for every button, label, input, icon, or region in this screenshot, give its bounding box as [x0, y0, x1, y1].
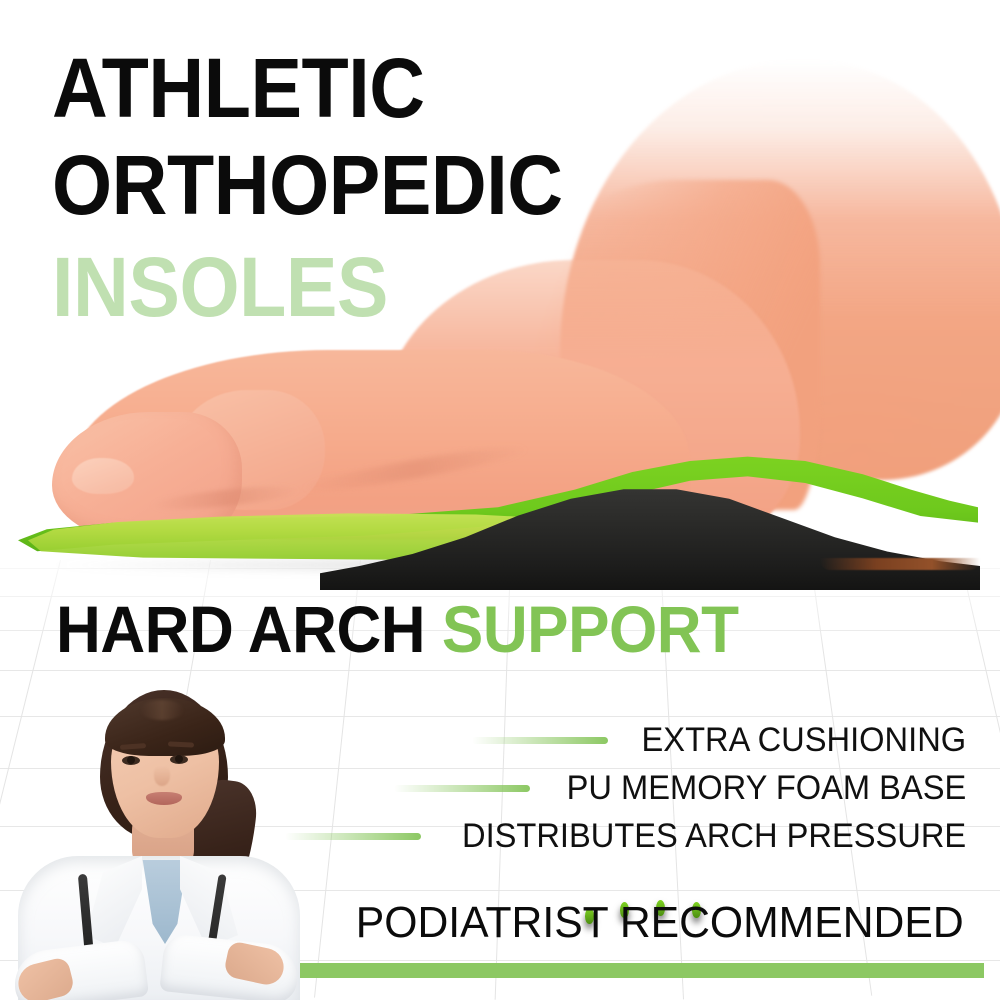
- podiatrist-photo: [12, 688, 302, 1000]
- subheadline-green: SUPPORT: [442, 592, 739, 666]
- hair-part: [140, 700, 184, 720]
- product-advertisement-poster: ATHLETIC ORTHOPEDIC INSOLES HARD ARCH SU…: [0, 0, 1000, 1000]
- feature-row: EXTRA CUSHIONING: [266, 716, 966, 764]
- subheadline: HARD ARCH SUPPORT: [56, 596, 739, 662]
- feature-dash-icon: [472, 737, 608, 744]
- headline-block: ATHLETIC ORTHOPEDIC INSOLES: [52, 48, 607, 329]
- pupil-left: [127, 756, 135, 764]
- insole-product: [0, 430, 1000, 590]
- subheadline-dark: HARD ARCH: [56, 592, 425, 666]
- feature-label: DISTRIBUTES ARCH PRESSURE: [462, 817, 966, 856]
- nose: [154, 766, 170, 786]
- feature-list: EXTRA CUSHIONING PU MEMORY FOAM BASE DIS…: [266, 716, 966, 860]
- feature-dash-icon: [285, 833, 421, 840]
- insole-heel-base: [820, 558, 980, 570]
- recommendation-claim: PODIATRIST RECOMMENDED: [356, 898, 964, 948]
- doctor-bottom-fade: [12, 974, 302, 1000]
- feature-label: EXTRA CUSHIONING: [641, 721, 966, 760]
- headline-line-1: ATHLETIC: [52, 48, 563, 129]
- feature-row: DISTRIBUTES ARCH PRESSURE: [266, 812, 966, 860]
- feature-dash-icon: [394, 785, 530, 792]
- headline-line-3: INSOLES: [52, 245, 563, 329]
- pupil-right: [175, 755, 183, 763]
- feature-label: PU MEMORY FOAM BASE: [566, 769, 966, 808]
- headline-line-2: ORTHOPEDIC: [52, 145, 563, 226]
- feature-row: PU MEMORY FOAM BASE: [266, 764, 966, 812]
